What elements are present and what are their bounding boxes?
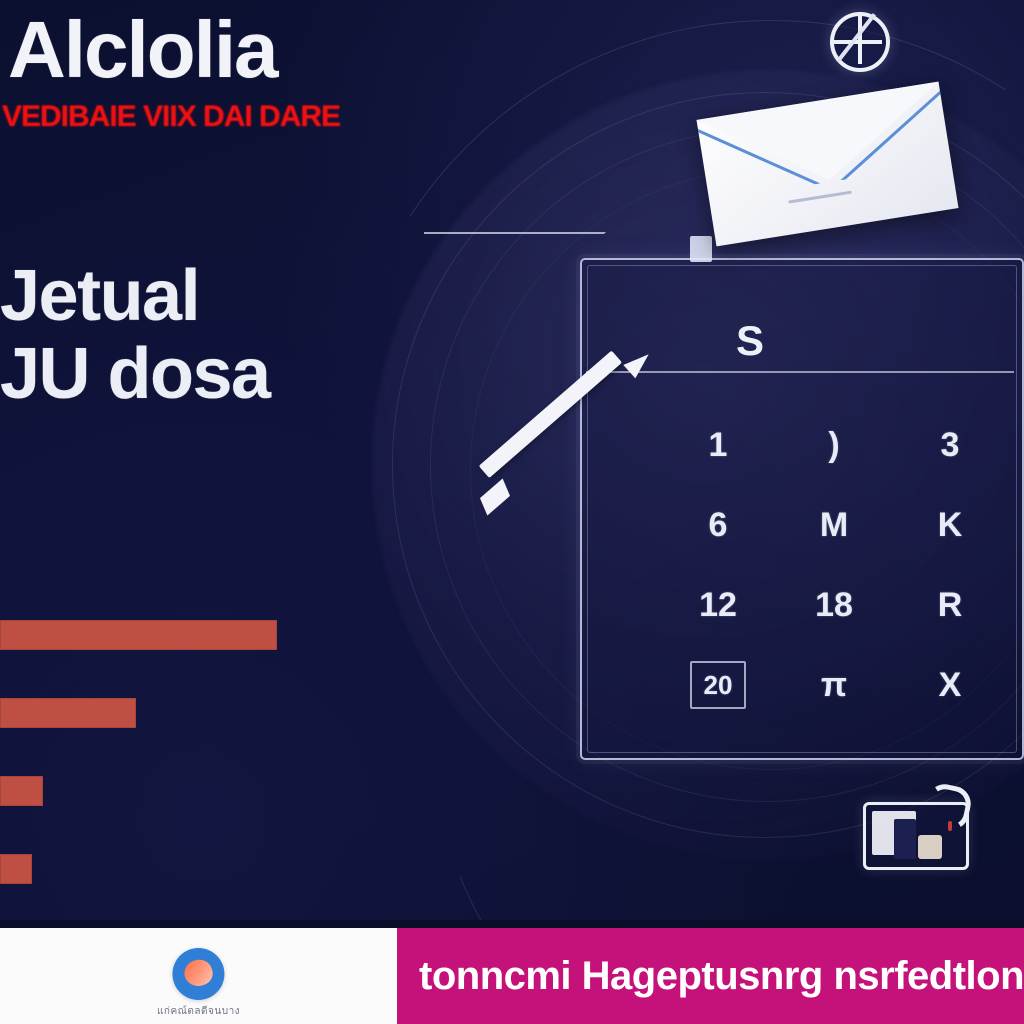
bottom-bar: แก่คณ์ตลดีจนบาง tonncmi Hageptusnrg nsrf… <box>0 928 1024 1024</box>
panel-key-cell[interactable]: π <box>776 645 892 725</box>
page-title: Alclolia <box>8 12 277 89</box>
panel-key-cell[interactable]: 1 <box>660 405 776 485</box>
banner-panel[interactable]: tonncmi Hageptusnrg nsrfedtlon <box>397 928 1024 1024</box>
panel-connector-tab <box>690 236 712 262</box>
chart-bar <box>0 854 32 884</box>
arrow-pointer-icon <box>480 348 670 512</box>
brand-caption: แก่คณ์ตลดีจนบาง <box>157 1004 240 1019</box>
envelope-seam-line <box>788 191 852 204</box>
banner-text: tonncmi Hageptusnrg nsrfedtlon <box>397 954 1024 999</box>
headline: Jetual JU dosa <box>0 258 420 414</box>
brand-logo-icon <box>173 948 225 1000</box>
chart-bar <box>0 620 277 650</box>
panel-key-cell[interactable]: 18 <box>776 565 892 645</box>
padlock-body-dark <box>894 819 916 859</box>
screenshot-canvas: Alclolia VEDIBAIE VIIX DAI DARE Jetual J… <box>0 0 1024 1024</box>
chart-bar <box>0 698 136 728</box>
padlock-icon[interactable] <box>863 802 969 870</box>
panel-notch <box>424 232 606 262</box>
panel-key-cell[interactable]: R <box>892 565 1008 645</box>
panel-key-cell[interactable]: 20 <box>690 661 746 709</box>
headline-line-1: Jetual <box>0 256 199 336</box>
brand-panel: แก่คณ์ตลดีจนบาง <box>0 928 397 1024</box>
headline-line-2: JU dosa <box>0 336 420 414</box>
panel-key-cell[interactable]: K <box>892 485 1008 565</box>
arrow-head <box>623 348 654 379</box>
bottom-divider <box>0 920 1024 928</box>
panel-key-cell[interactable]: 3 <box>892 405 1008 485</box>
bar-chart <box>0 620 340 884</box>
panel-header-label: S <box>736 317 764 365</box>
padlock-keyhole <box>918 835 942 859</box>
brand[interactable]: แก่คณ์ตลดีจนบาง <box>157 948 240 1019</box>
padlock-status-dot <box>948 821 952 831</box>
panel-key-cell[interactable]: M <box>776 485 892 565</box>
panel-key-cell[interactable]: X <box>892 645 1008 725</box>
globe-slash-icon <box>824 6 888 70</box>
chart-bar <box>0 776 43 806</box>
arrow-tail <box>480 478 510 515</box>
panel-key-cell[interactable]: ) <box>776 405 892 485</box>
arrow-shaft <box>479 350 622 478</box>
panel-key-cell[interactable]: 12 <box>660 565 776 645</box>
panel-key-cell[interactable]: 6 <box>660 485 776 565</box>
page-subtitle: VEDIBAIE VIIX DAI DARE <box>2 100 340 134</box>
panel-key-grid[interactable]: 1)36MK1218R20πX <box>660 405 1008 725</box>
